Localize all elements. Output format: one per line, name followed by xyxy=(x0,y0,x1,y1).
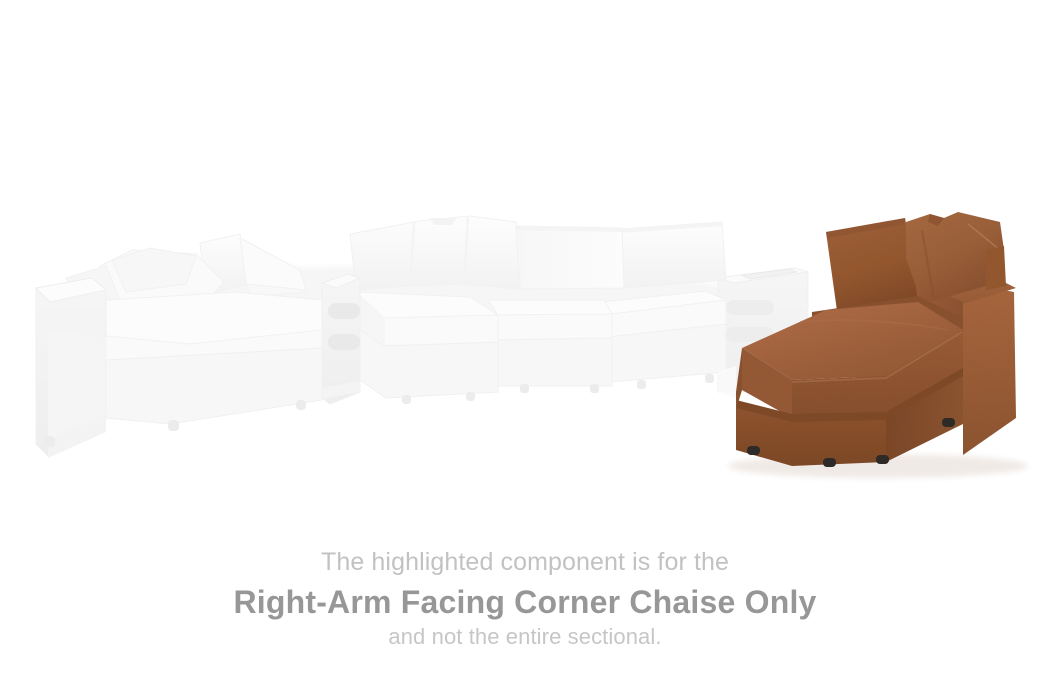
ghost-left-console xyxy=(322,274,360,404)
highlighted-right-arm-facing-corner-chaise xyxy=(728,212,1028,478)
chaise-arm-outer-panel xyxy=(963,282,1016,455)
caption-tail-text: and not the entire sectional. xyxy=(0,624,1050,650)
sectional-illustration xyxy=(0,0,1050,520)
caption-block: The highlighted component is for the Rig… xyxy=(0,548,1050,651)
ghost-left-loveseat xyxy=(36,234,322,458)
caption-main-text: Right-Arm Facing Corner Chaise Only xyxy=(0,582,1050,623)
ghosted-sectional xyxy=(36,216,808,458)
caption-lead-text: The highlighted component is for the xyxy=(0,548,1050,578)
product-image xyxy=(0,0,1050,520)
screenshot-stage: The highlighted component is for the Rig… xyxy=(0,0,1050,700)
